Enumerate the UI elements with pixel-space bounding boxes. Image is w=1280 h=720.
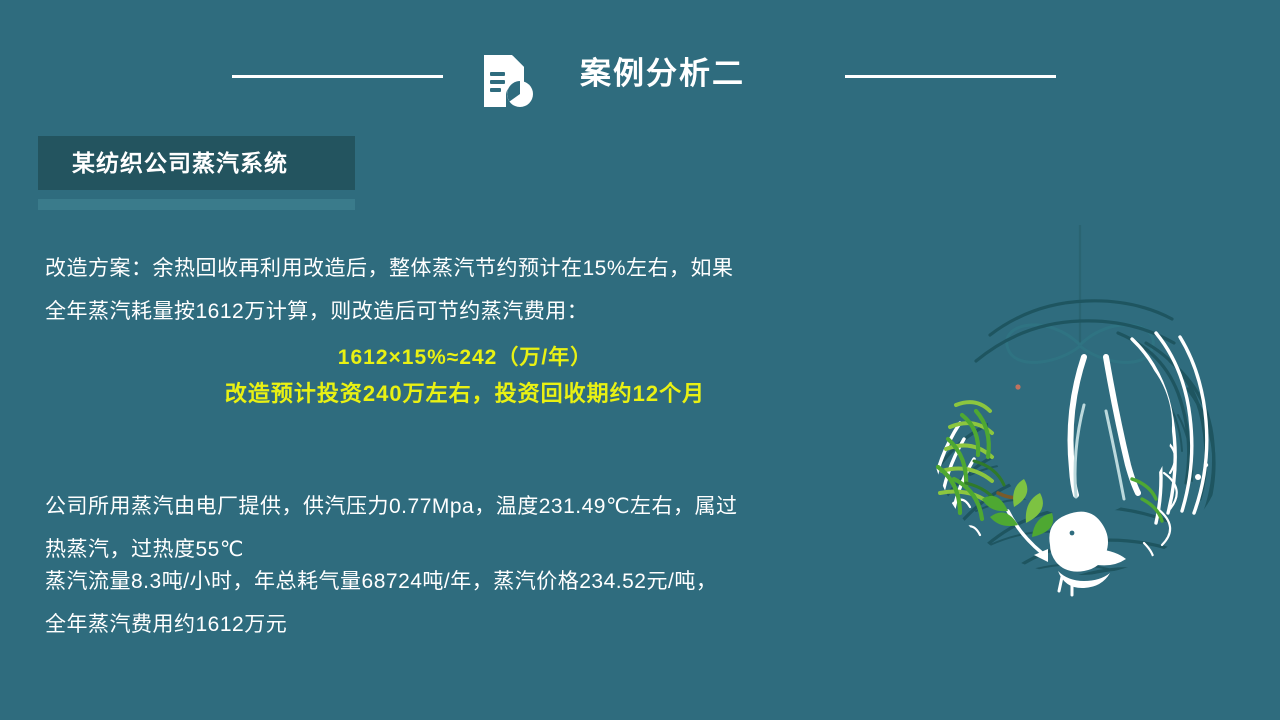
white-bird-icon: [1034, 512, 1126, 595]
steam-detail-paragraph: 公司所用蒸汽由电厂提供，供汽压力0.77Mpa，温度231.49℃左右，属过 热…: [45, 485, 885, 571]
intro-paragraph: 改造方案：余热回收再利用改造后，整体蒸汽节约预计在15%左右，如果 全年蒸汽耗量…: [45, 247, 875, 333]
slide-root: 案例分析二 某纺织公司蒸汽系统 改造方案：余热回收再利用改造后，整体蒸汽节约预计…: [0, 0, 1280, 720]
highlight-calculation-block: 1612×15%≈242（万/年） 改造预计投资240万左右，投资回收期约12个…: [45, 341, 885, 414]
header-rule-left: [232, 75, 443, 78]
steam-metrics-paragraph: 蒸汽流量8.3吨/小时，年总耗气量68724吨/年，蒸汽价格234.52元/吨，…: [45, 560, 895, 646]
green-foliage-accent: [938, 402, 1024, 519]
section-underbar: [38, 199, 355, 210]
wreath-with-bird-illustration: [880, 215, 1280, 645]
section-label-box: 某纺织公司蒸汽系统: [38, 136, 355, 190]
page-title: 案例分析二: [580, 54, 745, 94]
section-label-text: 某纺织公司蒸汽系统: [72, 148, 288, 178]
header-rule-right: [845, 75, 1056, 78]
green-leaf-sprig-right: [1132, 479, 1162, 521]
highlight-payback-line: 改造预计投资240万左右，投资回收期约12个月: [45, 374, 885, 414]
document-chart-icon: [478, 52, 536, 110]
green-leaf-branch-icon: [982, 479, 1053, 553]
highlight-formula-line: 1612×15%≈242（万/年）: [45, 341, 885, 374]
